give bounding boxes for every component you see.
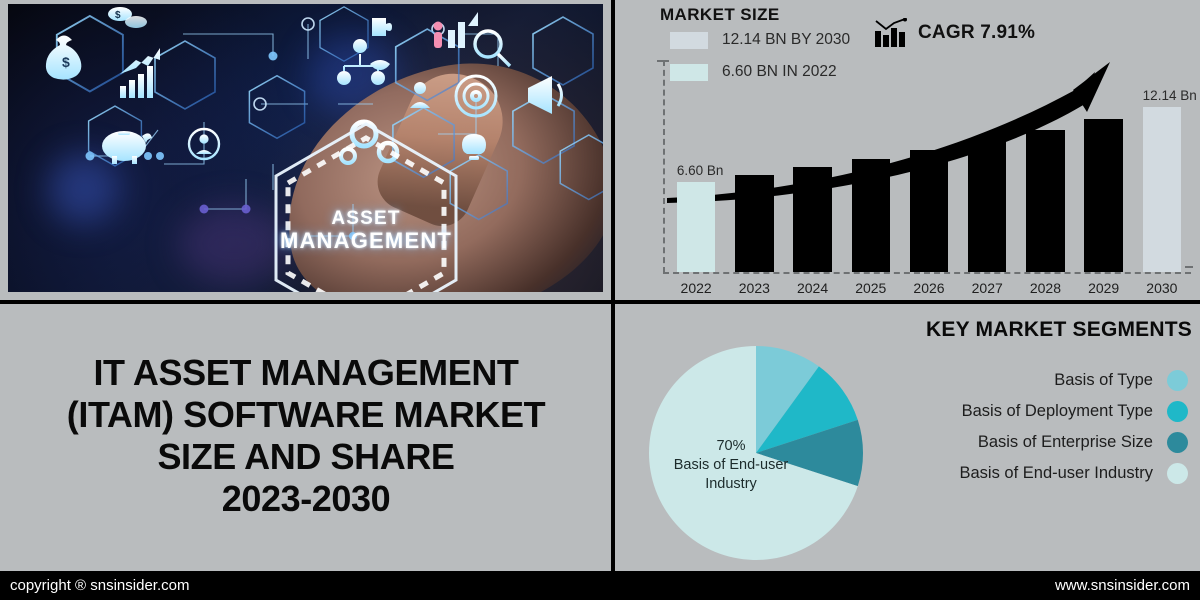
x-tick-label-2025: 2025 [842, 280, 900, 296]
segments-title: KEY MARKET SEGMENTS [926, 318, 1192, 342]
people-growth-icon [434, 12, 479, 48]
x-tick-label-2029: 2029 [1075, 280, 1133, 296]
x-tick-label-2022: 2022 [667, 280, 725, 296]
segment-legend-item[interactable]: Basis of Type [959, 365, 1188, 396]
title-line-3: SIZE AND SHARE [14, 436, 598, 478]
coins-dollar-icon: $ [108, 7, 147, 28]
footer-copyright: copyright ® snsinsider.com [10, 577, 189, 594]
x-tick-label-2023: 2023 [725, 280, 783, 296]
puzzle-piece-icon [372, 18, 392, 36]
hero-photo: $ $ [8, 4, 603, 292]
segment-label: Basis of Enterprise Size [978, 433, 1153, 452]
footer: copyright ® snsinsider.com www.snsinside… [0, 571, 1200, 600]
horizontal-divider [0, 300, 1200, 304]
asset-management-overlay-label: ASSET MANAGEMENT [276, 209, 456, 252]
bar-2028 [1026, 130, 1064, 272]
segment-color-dot [1167, 432, 1188, 453]
market-size-title: MARKET SIZE [660, 5, 780, 25]
bar-2027 [968, 140, 1006, 272]
x-tick-label-2028: 2028 [1016, 280, 1074, 296]
overlay-label-line2: MANAGEMENT [276, 229, 456, 252]
businessman-icon [410, 82, 430, 108]
vertical-divider [611, 0, 615, 571]
bar-chart-trend-icon [874, 18, 908, 48]
overlay-label-line1: ASSET [276, 209, 456, 229]
segment-label: Basis of Deployment Type [962, 402, 1153, 421]
x-tick-label-2030: 2030 [1133, 280, 1191, 296]
y-axis-top-tick [657, 60, 669, 62]
segments-pie-chart: 70% Basis of End-user Industry [648, 345, 864, 561]
segment-legend-item[interactable]: Basis of Deployment Type [959, 396, 1188, 427]
legend-label-2030: 12.14 BN BY 2030 [722, 31, 850, 49]
lightbulb-icon [462, 134, 486, 160]
bar-2022: 6.60 Bn [677, 182, 715, 272]
footer-website[interactable]: www.snsinsider.com [1055, 577, 1190, 594]
bar-2023 [735, 175, 773, 272]
segment-legend-item[interactable]: Basis of End-user Industry [959, 458, 1188, 489]
segment-label: Basis of End-user Industry [959, 464, 1153, 483]
title-line-4: 2023-2030 [14, 478, 598, 520]
x-axis-end-tick [1185, 266, 1193, 268]
segment-legend-item[interactable]: Basis of Enterprise Size [959, 427, 1188, 458]
segment-label: Basis of Type [1054, 371, 1153, 390]
money-bag-icon: $ [46, 36, 81, 80]
bar-2026 [910, 150, 948, 272]
bar-chart-growth-icon [120, 48, 160, 98]
title-line-1: IT ASSET MANAGEMENT [14, 352, 598, 394]
infographic-root: $ $ [0, 0, 1200, 600]
segment-color-dot [1167, 401, 1188, 422]
y-axis [663, 60, 665, 273]
x-tick-label-2027: 2027 [958, 280, 1016, 296]
gears-icon [341, 122, 397, 163]
bar-value-label-2022: 6.60 Bn [677, 163, 715, 178]
bar-value-label-2030: 12.14 Bn [1143, 88, 1181, 103]
bar-2029 [1084, 119, 1122, 272]
segment-color-dot [1167, 463, 1188, 484]
title-line-2: (ITAM) SOFTWARE MARKET [14, 394, 598, 436]
x-tick-label-2026: 2026 [900, 280, 958, 296]
legend-item-2030: 12.14 BN BY 2030 [670, 31, 850, 49]
handshake-icon [370, 60, 390, 70]
x-axis [663, 272, 1191, 274]
cagr-badge: CAGR 7.91% [874, 18, 1035, 48]
cagr-label: CAGR 7.91% [918, 22, 1035, 44]
piggy-bank-icon [102, 131, 152, 164]
page-title: IT ASSET MANAGEMENT (ITAM) SOFTWARE MARK… [14, 352, 598, 520]
magnifier-icon [475, 31, 510, 66]
market-size-bar-chart: 6.60 Bn12.14 Bn 202220232024202520262027… [655, 60, 1200, 300]
svg-text:$: $ [115, 10, 121, 21]
svg-text:$: $ [62, 54, 70, 70]
x-tick-label-2024: 2024 [783, 280, 841, 296]
bar-2030: 12.14 Bn [1143, 107, 1181, 272]
segment-color-dot [1167, 370, 1188, 391]
bar-2025 [852, 159, 890, 272]
pie-svg [648, 345, 864, 561]
legend-swatch-2030 [670, 32, 708, 49]
bar-2024 [793, 167, 831, 272]
segments-legend: Basis of TypeBasis of Deployment TypeBas… [959, 365, 1188, 489]
